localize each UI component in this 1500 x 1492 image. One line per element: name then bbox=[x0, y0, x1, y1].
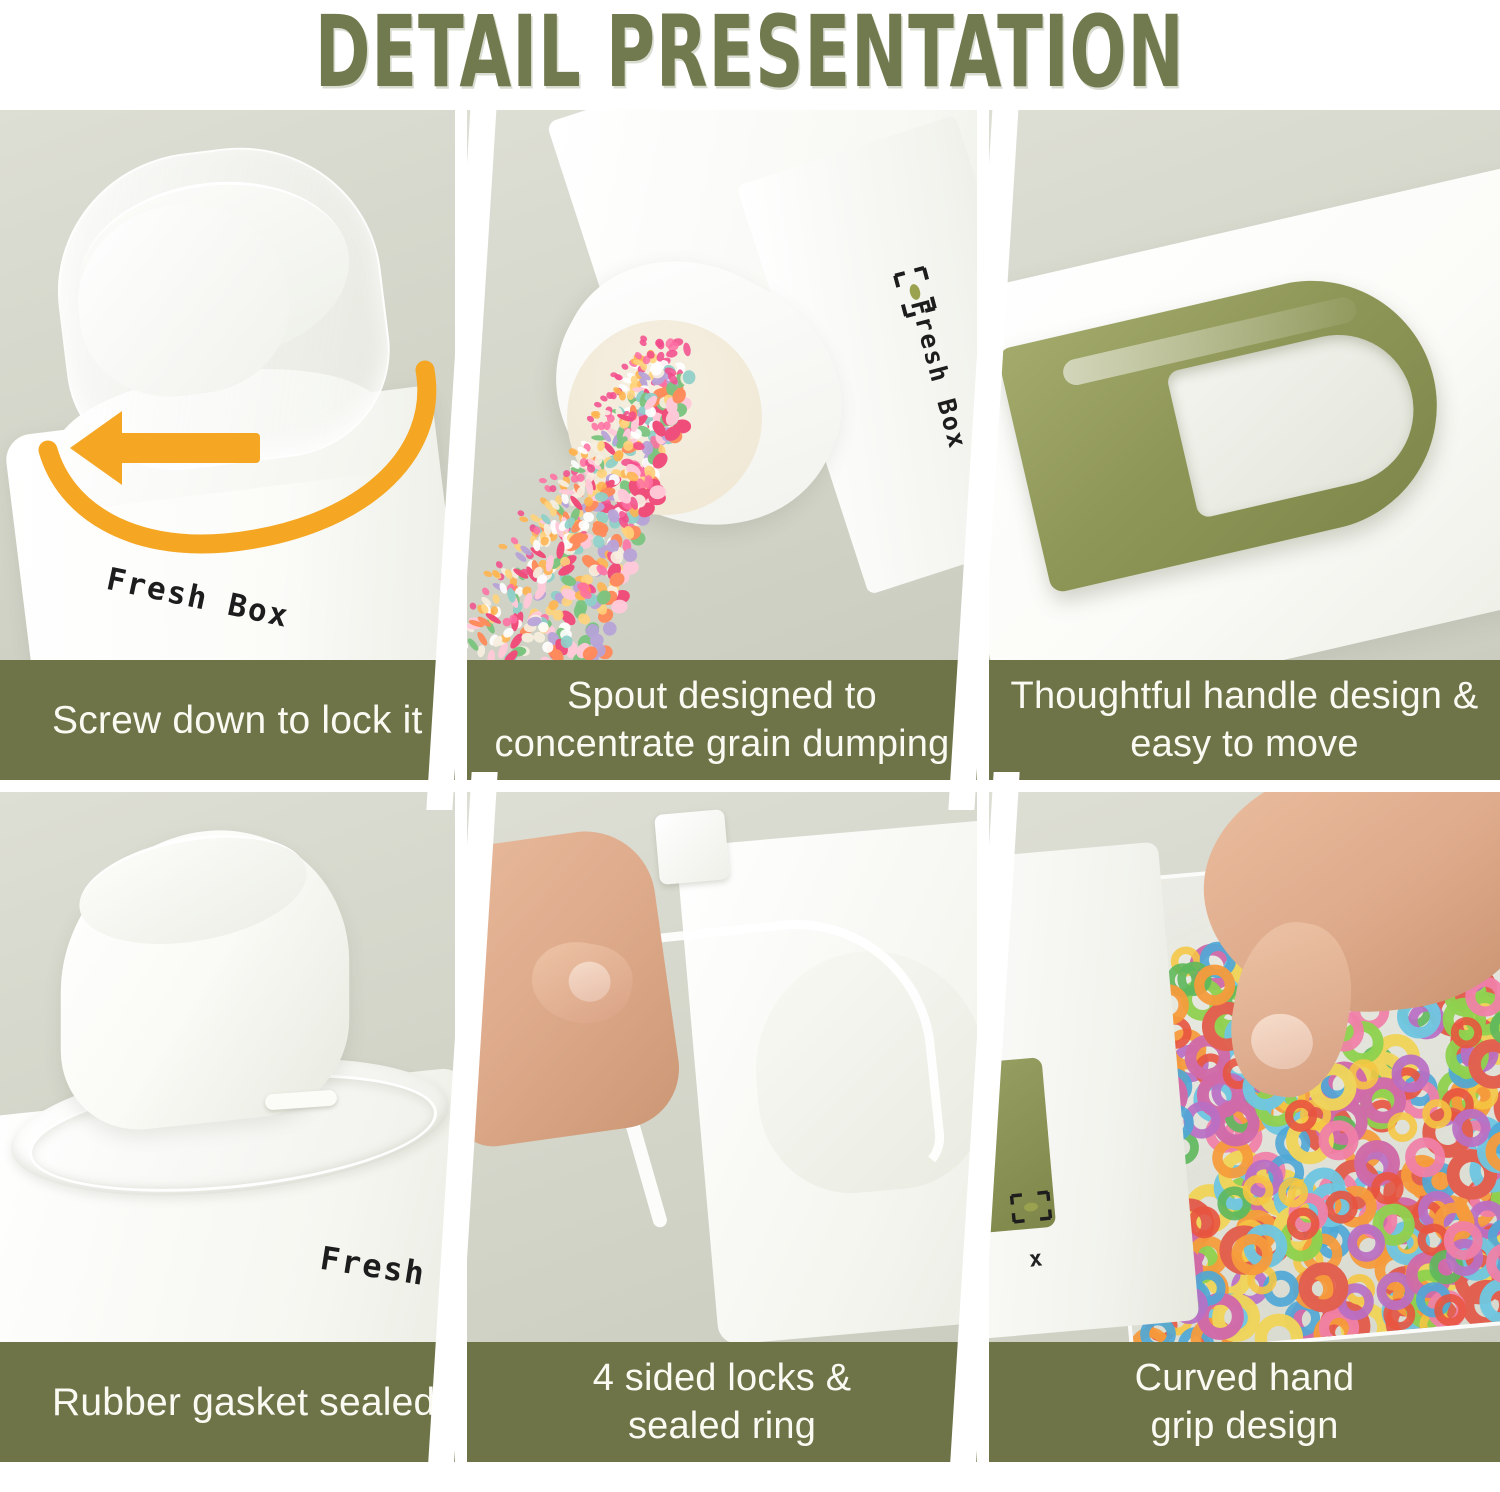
fresh-box-logo-icon bbox=[1010, 1190, 1053, 1224]
hand-icon bbox=[467, 822, 687, 1151]
caption-line-1: Spout designed to bbox=[495, 672, 950, 720]
lock-clip-shape bbox=[654, 809, 730, 885]
caption-screw-down-lock: Screw down to lock it bbox=[0, 660, 455, 780]
caption-line-1: Rubber gasket sealed bbox=[52, 1379, 435, 1426]
page-header: DETAIL PRESENTATION bbox=[0, 0, 1500, 104]
panel-screw-down-lock[interactable]: Fresh Box Screw down to lock it bbox=[0, 110, 455, 780]
caption-line-1: Screw down to lock it bbox=[52, 697, 423, 744]
photo-curved-hand-grip: x bbox=[989, 792, 1500, 1342]
caption-spout-grain-dumping: Spout designed to concentrate grain dump… bbox=[467, 660, 977, 780]
detail-panel-grid: Fresh Box Screw down to lock it bbox=[0, 104, 1500, 1463]
photo-handle-design bbox=[989, 110, 1500, 660]
panel-handle-design[interactable]: Thoughtful handle design & easy to move bbox=[989, 110, 1500, 780]
panel-row-top: Fresh Box Screw down to lock it bbox=[0, 110, 1500, 780]
caption-line-1: 4 sided locks & bbox=[593, 1354, 852, 1402]
caption-rubber-gasket: Rubber gasket sealed bbox=[0, 1342, 455, 1462]
caption-line-1: Curved hand bbox=[1135, 1354, 1355, 1402]
panel-spout-grain-dumping[interactable]: Fresh Box Spout designed to concentrate … bbox=[467, 110, 977, 780]
caption-line-2: concentrate grain dumping bbox=[495, 720, 950, 768]
panel-row-bottom: Fresh Rubber gasket sealed bbox=[0, 792, 1500, 1462]
caption-line-2: easy to move bbox=[1011, 720, 1479, 768]
panel-rubber-gasket[interactable]: Fresh Rubber gasket sealed bbox=[0, 792, 455, 1462]
caption-handle-design: Thoughtful handle design & easy to move bbox=[989, 660, 1500, 780]
brand-label: x bbox=[1028, 1246, 1046, 1272]
page-title: DETAIL PRESENTATION bbox=[315, 2, 1185, 101]
rotation-arrow-icon bbox=[10, 285, 450, 565]
caption-line-2: sealed ring bbox=[593, 1402, 852, 1450]
caption-curved-hand-grip: Curved hand grip design bbox=[989, 1342, 1500, 1462]
caption-four-sided-locks: 4 sided locks & sealed ring bbox=[467, 1342, 977, 1462]
photo-spout-grain-dumping: Fresh Box bbox=[467, 110, 977, 660]
panel-four-sided-locks[interactable]: 4 sided locks & sealed ring bbox=[467, 792, 977, 1462]
photo-four-sided-locks bbox=[467, 792, 977, 1342]
photo-rubber-gasket: Fresh bbox=[0, 792, 455, 1342]
caption-line-1: Thoughtful handle design & bbox=[1011, 672, 1479, 720]
photo-screw-down-lock: Fresh Box bbox=[0, 110, 455, 660]
panel-curved-hand-grip[interactable]: x Curved hand grip design bbox=[989, 792, 1500, 1462]
grain-stream-icon bbox=[467, 110, 977, 660]
caption-line-2: grip design bbox=[1135, 1402, 1355, 1450]
